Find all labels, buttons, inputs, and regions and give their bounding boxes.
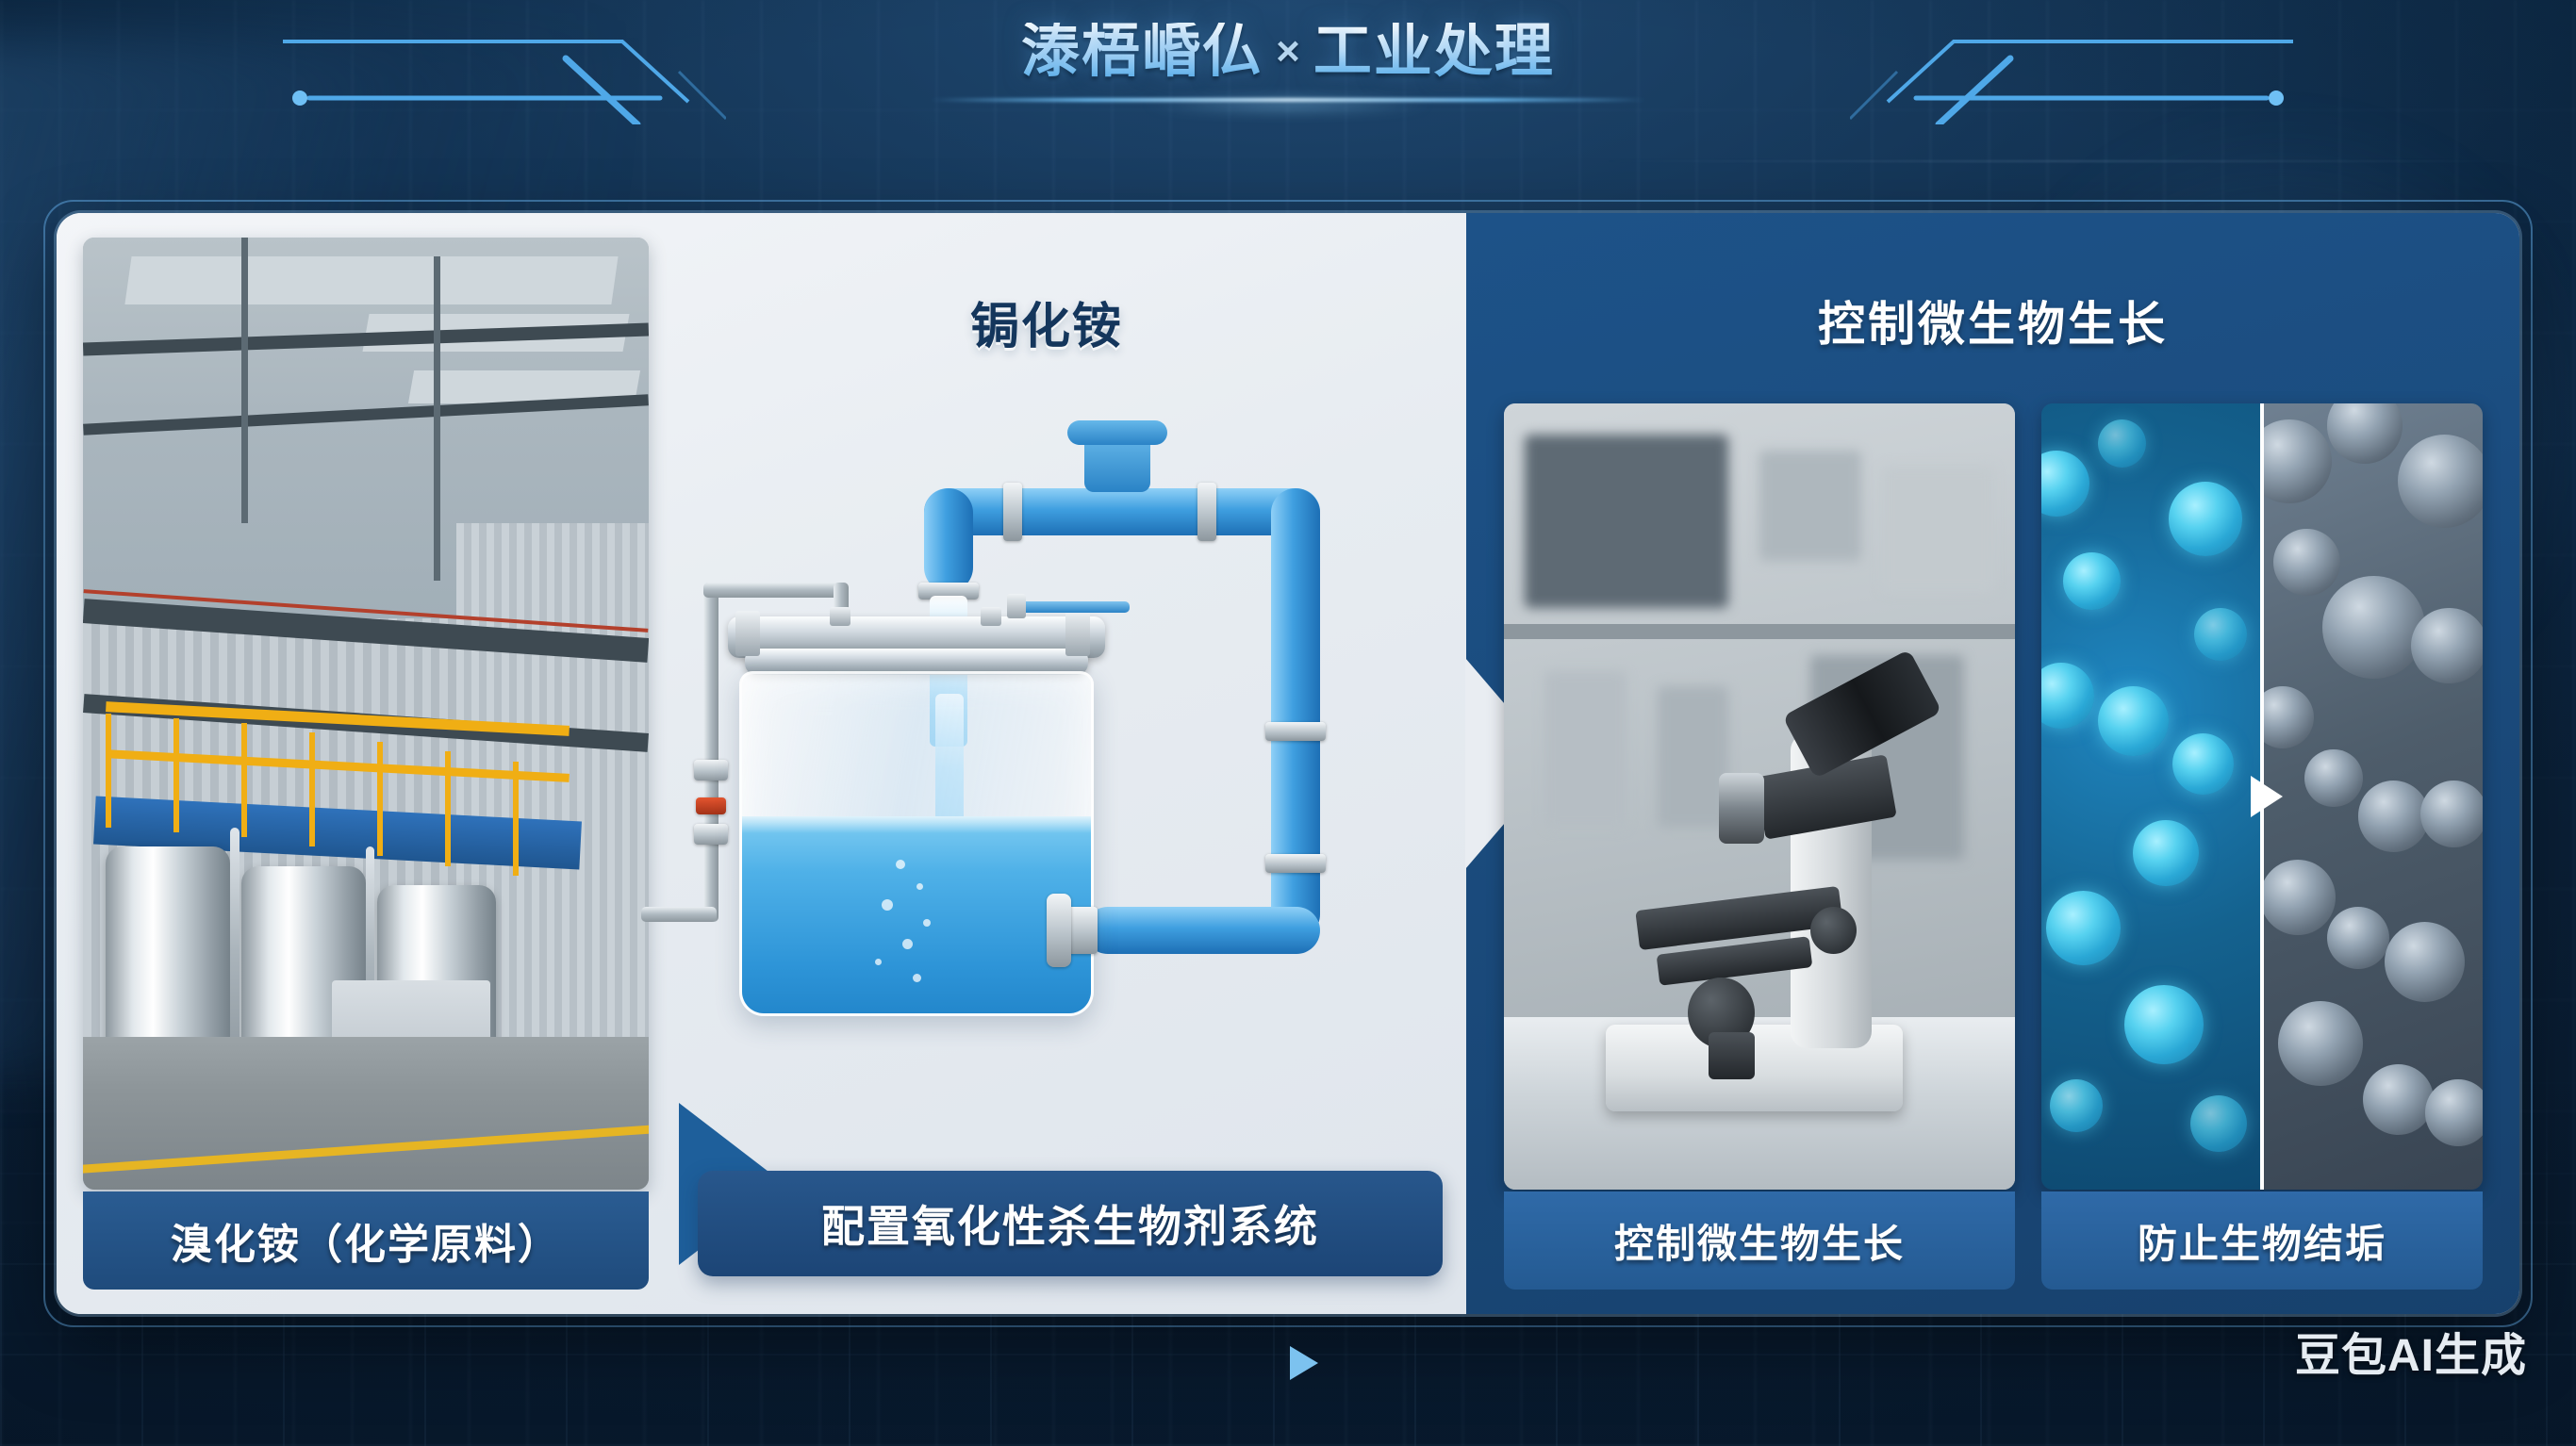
left-panel: 溴化铵（化学原料） 锔化铵: [57, 213, 1466, 1314]
microbe-comparison-photo: [2041, 403, 2483, 1190]
header: 溙梧崏仏 × 工业处理: [0, 0, 2576, 124]
play-triangle-icon[interactable]: [1290, 1346, 1318, 1380]
header-decoration-left: [283, 0, 726, 124]
microbe-before-image: [2041, 403, 2260, 1190]
microscope-photo: [1504, 403, 2015, 1190]
factory-photo: [83, 238, 649, 1190]
ai-watermark: 豆包AI生成: [2295, 1318, 2527, 1384]
title-separator: ×: [1276, 28, 1300, 75]
center-chemical-label: 锔化铵: [641, 287, 1452, 357]
caption-text: 配置氧化性杀生物剂系统: [821, 1192, 1319, 1255]
microbe-after-image: [2260, 403, 2483, 1190]
glass-tank: [739, 671, 1094, 1016]
reactor-illustration: [641, 383, 1452, 1099]
caption-text: 控制微生物生长: [1614, 1212, 1905, 1270]
title-underline: [930, 98, 1646, 102]
page-title: 溙梧崏仏 × 工业处理: [1021, 23, 1555, 81]
caption-oxidizing-biocide-system: 配置氧化性杀生物剂系统: [698, 1171, 1443, 1276]
right-panel: 控制微生物生长: [1466, 213, 2519, 1314]
caption-text: 溴化铵（化学原料）: [171, 1210, 561, 1271]
caption-prevent-bio-fouling: 防止生物结垢: [2041, 1191, 2483, 1290]
comparison-arrow-icon: [2251, 776, 2283, 817]
caption-bromide-raw-material: 溴化铵（化学原料）: [83, 1191, 649, 1290]
caption-text: 防止生物结垢: [2138, 1212, 2386, 1270]
main-card: 溴化铵（化学原料） 锔化铵: [57, 213, 2519, 1314]
title-main-text: 溙梧崏仏: [1021, 23, 1263, 81]
title-sub-text: 工业处理: [1313, 23, 1555, 81]
header-decoration-right: [1850, 0, 2293, 124]
right-panel-title: 控制微生物生长: [1466, 287, 2519, 354]
caption-control-microbial-growth: 控制微生物生长: [1504, 1191, 2015, 1290]
